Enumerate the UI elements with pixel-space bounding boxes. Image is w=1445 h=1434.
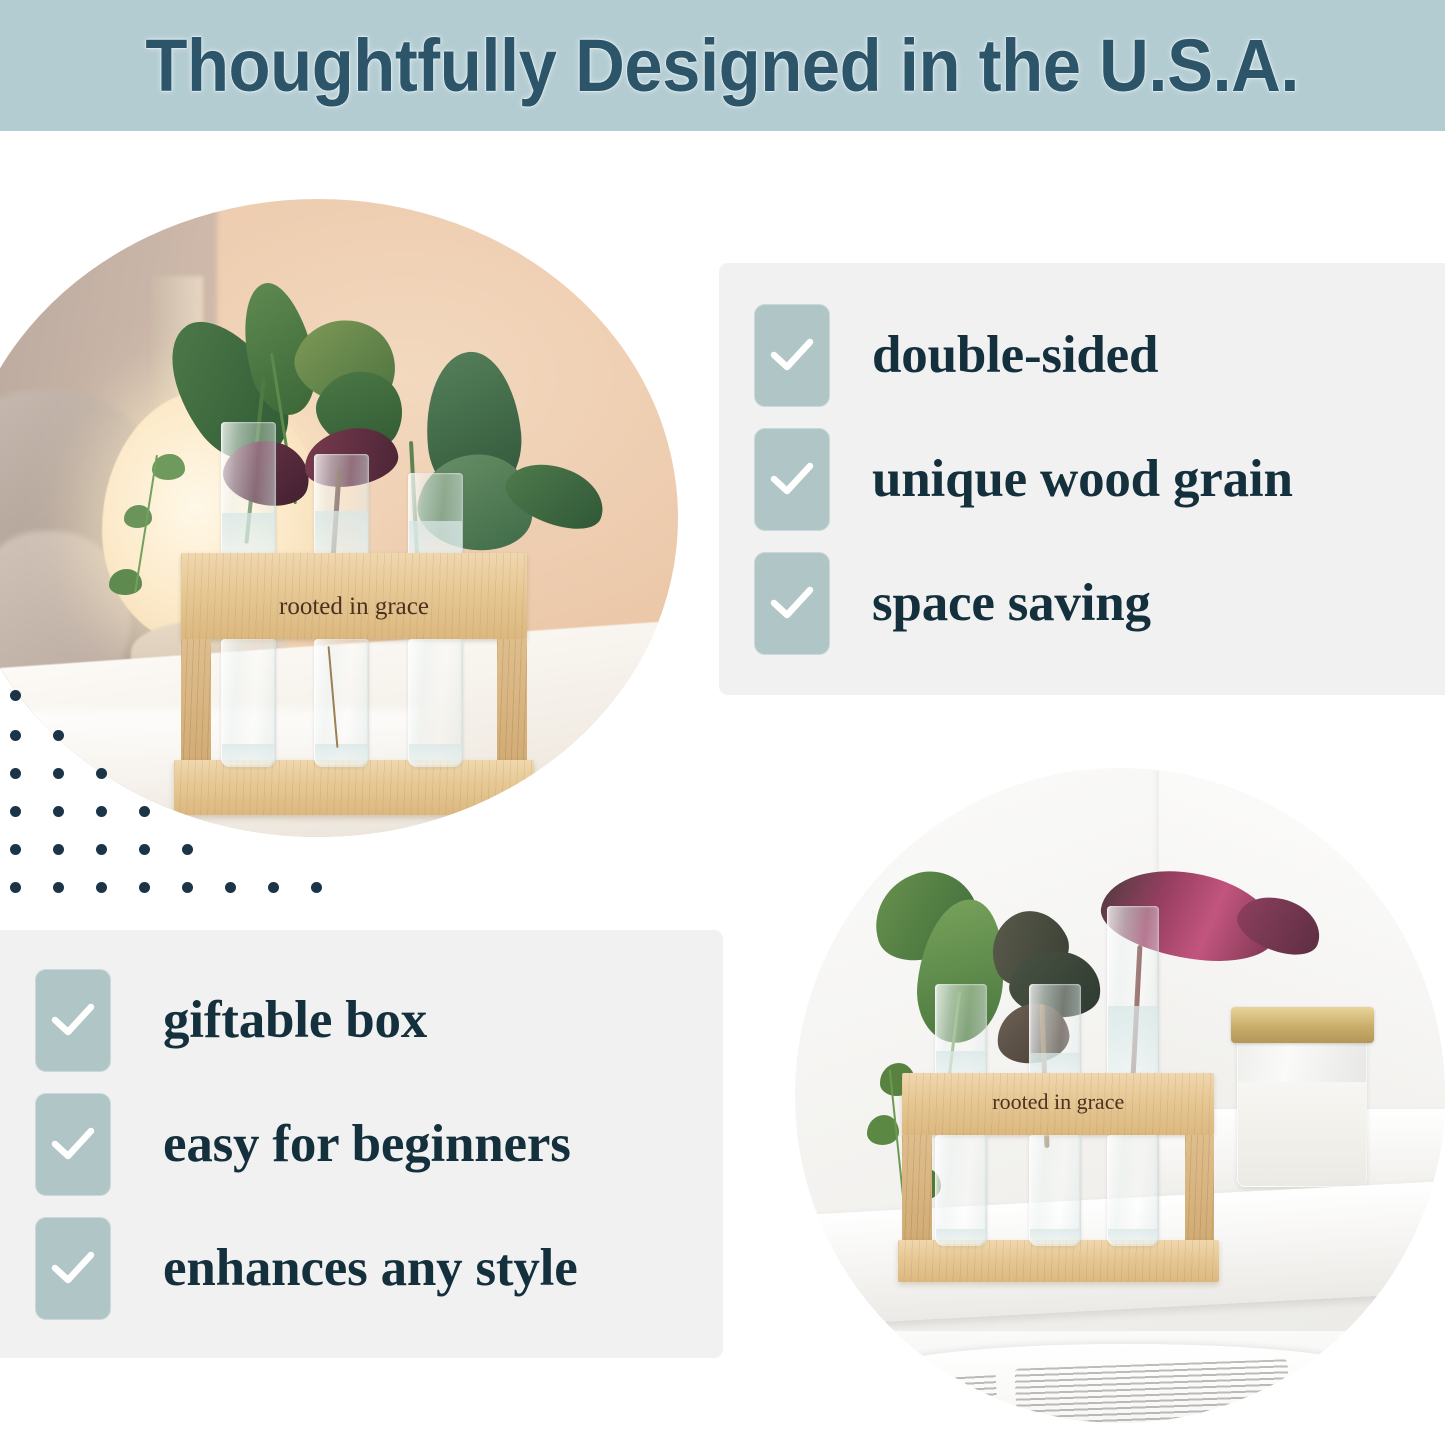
feature-panel-left: giftable box easy for beginners enhances…: [0, 930, 723, 1358]
dot: [96, 882, 107, 893]
candle-jar: [1237, 1030, 1367, 1187]
glass-tube: [1029, 984, 1081, 1082]
wood-stand-right-post: [497, 639, 527, 779]
dot: [10, 690, 21, 701]
dot: [139, 806, 150, 817]
feature-row: unique wood grain: [754, 417, 1445, 541]
feature-row: double-sided: [754, 293, 1445, 417]
dot: [53, 882, 64, 893]
dot: [10, 844, 21, 855]
dot: [96, 768, 107, 779]
check-icon: [35, 1093, 111, 1196]
glass-tube: [314, 454, 369, 562]
dot: [182, 844, 193, 855]
feature-list-left: giftable box easy for beginners enhances…: [0, 930, 768, 1358]
water: [1108, 1229, 1158, 1245]
wood-stand-left-post: [902, 1135, 931, 1253]
dot: [53, 730, 64, 741]
dot: [53, 768, 64, 779]
feature-label: giftable box: [163, 994, 427, 1047]
dot: [10, 882, 21, 893]
dot: [10, 730, 21, 741]
check-icon: [754, 304, 830, 407]
book-text-left: [924, 1375, 998, 1423]
wood-stand-top-bar: rooted in grace: [902, 1073, 1214, 1135]
feature-list-right: double-sided unique wood grain space sav…: [719, 263, 1445, 695]
water: [936, 1229, 986, 1245]
dot: [96, 806, 107, 817]
glass-tube-lower: [1029, 1135, 1081, 1246]
glass-tube: [1107, 906, 1159, 1083]
dot: [182, 882, 193, 893]
dot-grid: [10, 690, 340, 920]
dot: [10, 806, 21, 817]
check-icon: [754, 428, 830, 531]
dot: [268, 882, 279, 893]
check-icon: [35, 1217, 111, 1320]
check-icon: [754, 552, 830, 655]
check-icon: [35, 969, 111, 1072]
header-banner: Thoughtfully Designed in the U.S.A.: [0, 0, 1445, 131]
glass-tube: [935, 984, 987, 1082]
water: [409, 744, 462, 764]
feature-row: space saving: [754, 541, 1445, 665]
glass-tube: [221, 422, 276, 562]
feature-row: giftable box: [35, 958, 768, 1082]
feature-label: easy for beginners: [163, 1118, 571, 1171]
feature-row: easy for beginners: [35, 1082, 768, 1206]
dot: [96, 844, 107, 855]
wood-stand-right-post: [1185, 1135, 1214, 1253]
book-text: [1015, 1359, 1291, 1423]
feature-label: double-sided: [872, 329, 1158, 382]
candle-wax: [1238, 1082, 1366, 1186]
glass-tube-lower: [935, 1135, 987, 1246]
glass-tube: [408, 473, 463, 562]
feature-label: space saving: [872, 577, 1151, 630]
water: [1108, 1006, 1158, 1080]
candle-lid: [1231, 1007, 1374, 1043]
water: [1030, 1229, 1080, 1245]
dot: [139, 844, 150, 855]
engraved-text: rooted in grace: [181, 593, 527, 621]
glass-tube-lower: [408, 639, 463, 767]
photo-shelf: rooted in grace: [795, 768, 1445, 1423]
dot: [225, 882, 236, 893]
dot: [53, 806, 64, 817]
dot: [311, 882, 322, 893]
feature-label: unique wood grain: [872, 453, 1293, 506]
dot: [10, 768, 21, 779]
shelf-scene: rooted in grace: [795, 768, 1445, 1423]
feature-panel-right: double-sided unique wood grain space sav…: [719, 263, 1445, 695]
feature-label: enhances any style: [163, 1242, 578, 1295]
wood-stand-top-bar: rooted in grace: [181, 553, 527, 639]
dot: [53, 844, 64, 855]
feature-row: enhances any style: [35, 1206, 768, 1330]
glass-tube-lower: [1107, 1135, 1159, 1246]
dot: [139, 882, 150, 893]
page-title: Thoughtfully Designed in the U.S.A.: [146, 23, 1300, 108]
engraved-text: rooted in grace: [902, 1089, 1214, 1115]
